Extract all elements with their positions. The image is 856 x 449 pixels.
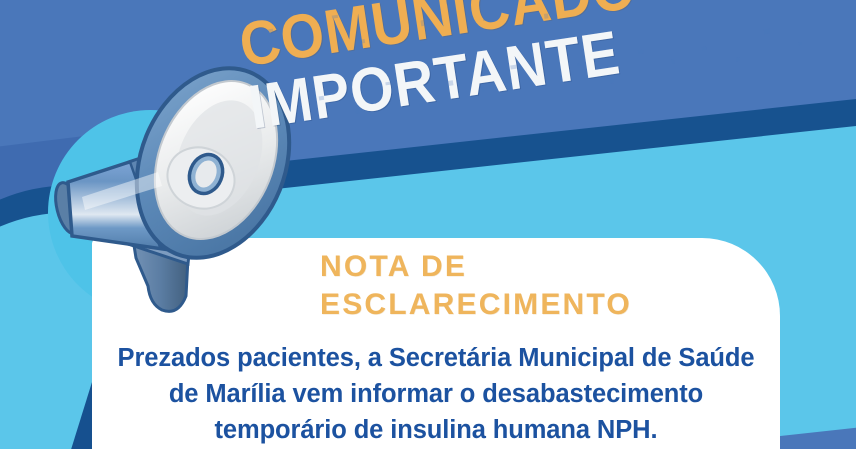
body-line-3: temporário de insulina humana NPH.: [98, 412, 774, 448]
body-line-1: Prezados pacientes, a Secretária Municip…: [98, 340, 774, 376]
body-line-2: de Marília vem informar o desabastecimen…: [98, 376, 774, 412]
card-body-text: Prezados pacientes, a Secretária Municip…: [98, 340, 774, 449]
subtitle-line-2: ESCLARECIMENTO: [320, 286, 840, 324]
subtitle-line-1: NOTA DE: [320, 248, 840, 286]
card-subtitle: NOTA DE ESCLARECIMENTO: [320, 248, 840, 325]
announcement-poster: COMUNICADO IMPORTANTE: [0, 0, 856, 449]
megaphone-icon: [38, 58, 323, 328]
